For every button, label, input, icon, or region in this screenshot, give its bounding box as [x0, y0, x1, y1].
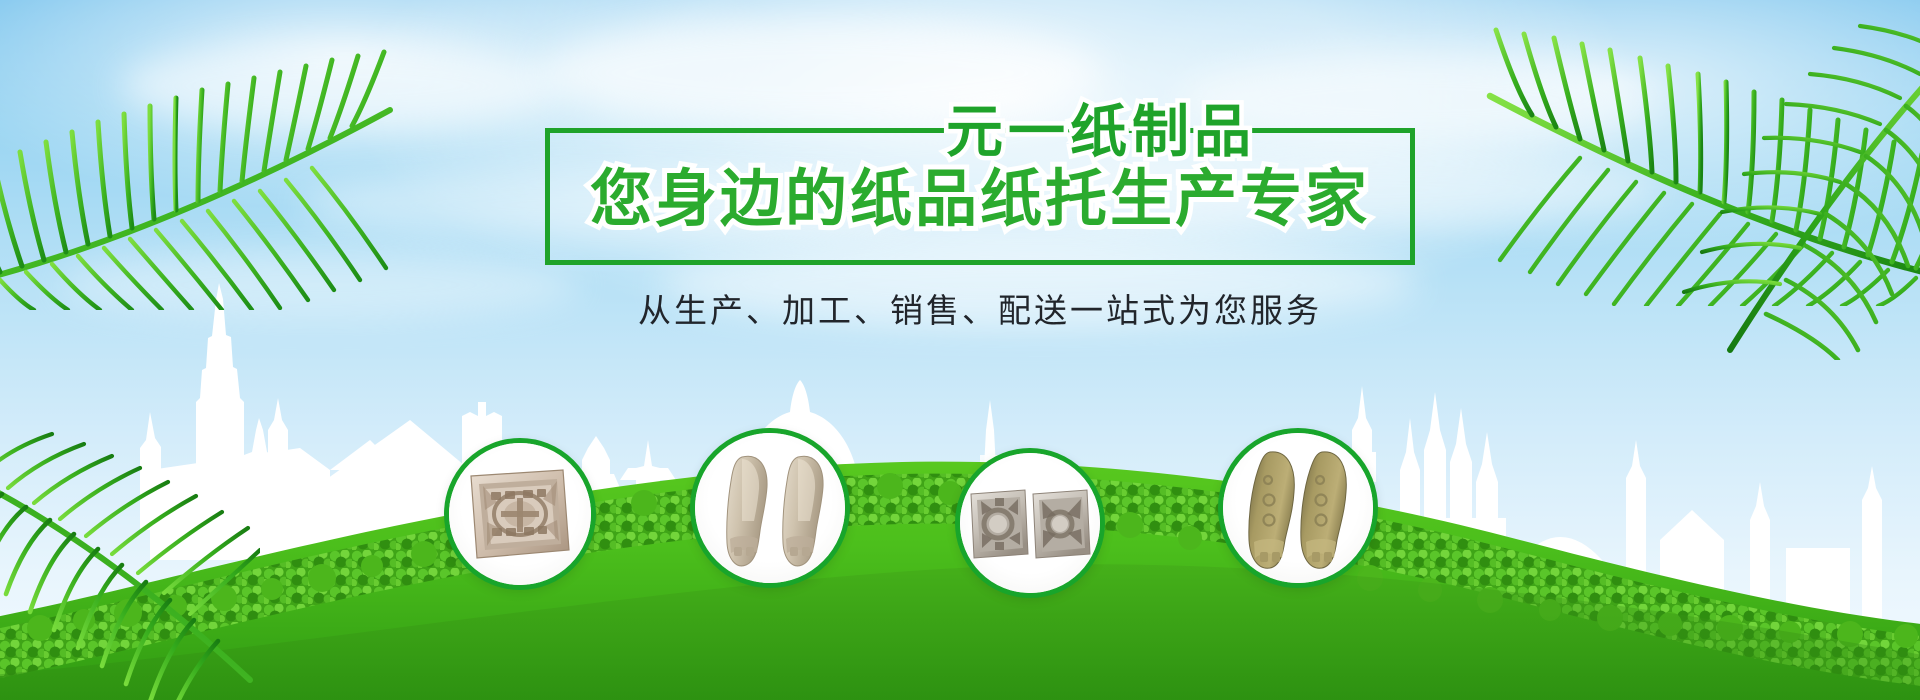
product-circle-2[interactable]: [690, 428, 850, 588]
product-circle-4[interactable]: [1218, 428, 1378, 588]
khaki-shoe-forms-icon: [1238, 442, 1358, 574]
beige-shoe-forms-icon: [712, 443, 828, 573]
promo-banner: 元一纸制品 您身边的纸品纸托生产专家 从生产、加工、销售、配送一站式为您服务: [0, 0, 1920, 700]
square-pulp-tray-icon: [461, 458, 579, 570]
product-circle-row: [0, 0, 1920, 700]
grey-pulp-packaging-icon: [968, 482, 1092, 564]
product-circle-3[interactable]: [955, 448, 1105, 598]
product-circle-1[interactable]: [444, 438, 596, 590]
